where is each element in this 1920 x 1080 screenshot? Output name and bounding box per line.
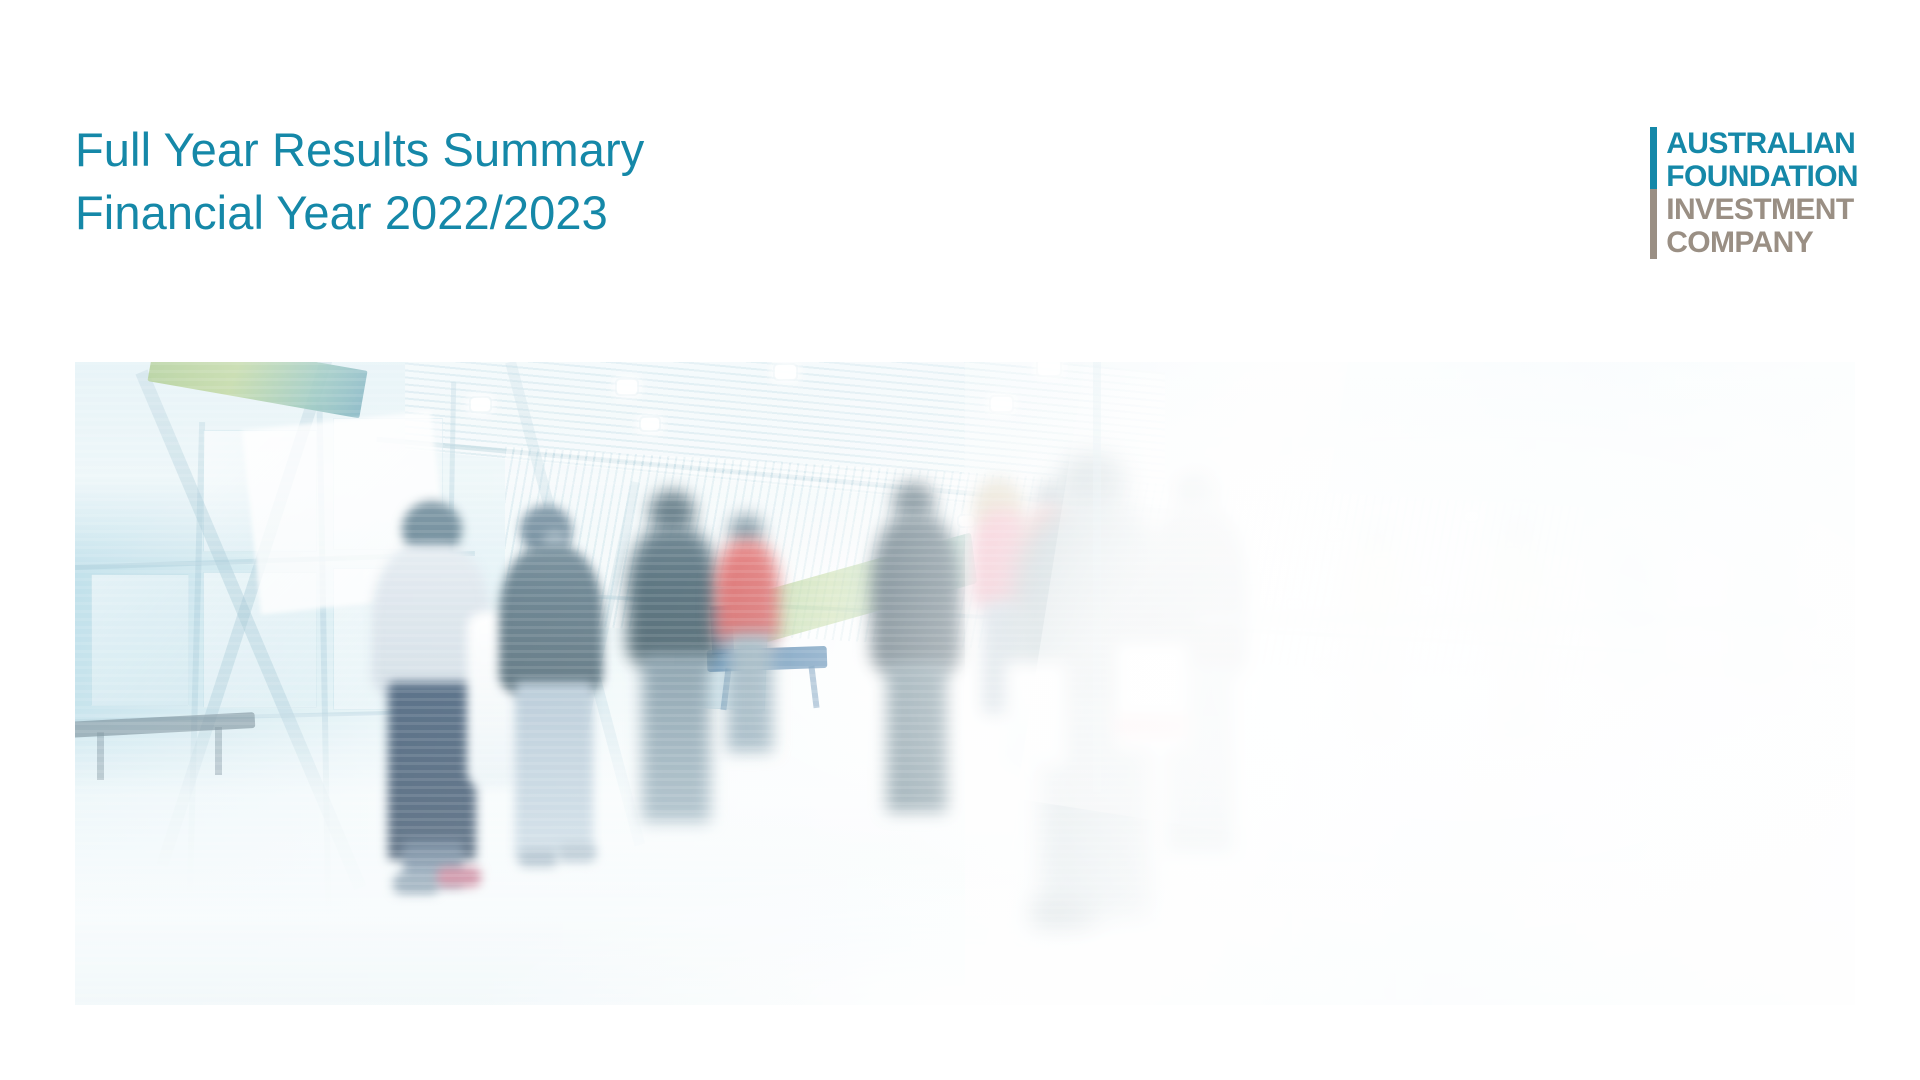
logo-line-investment: INVESTMENT	[1666, 193, 1858, 226]
motion-blur-streaks	[75, 362, 1855, 1005]
title-line-2: Financial Year 2022/2023	[75, 181, 644, 244]
afic-logo: AUSTRALIAN FOUNDATION INVESTMENT COMPANY	[1650, 127, 1858, 259]
slide-canvas: Full Year Results Summary Financial Year…	[0, 0, 1920, 1080]
logo-wordmark: AUSTRALIAN FOUNDATION INVESTMENT COMPANY	[1666, 127, 1858, 259]
logo-line-company: COMPANY	[1666, 226, 1858, 259]
title-line-1: Full Year Results Summary	[75, 118, 644, 181]
logo-line-australian: AUSTRALIAN	[1666, 127, 1858, 160]
banner-photo	[75, 362, 1855, 1005]
logo-line-foundation: FOUNDATION	[1666, 160, 1858, 193]
logo-accent-bar	[1650, 127, 1657, 259]
page-title: Full Year Results Summary Financial Year…	[75, 118, 644, 244]
